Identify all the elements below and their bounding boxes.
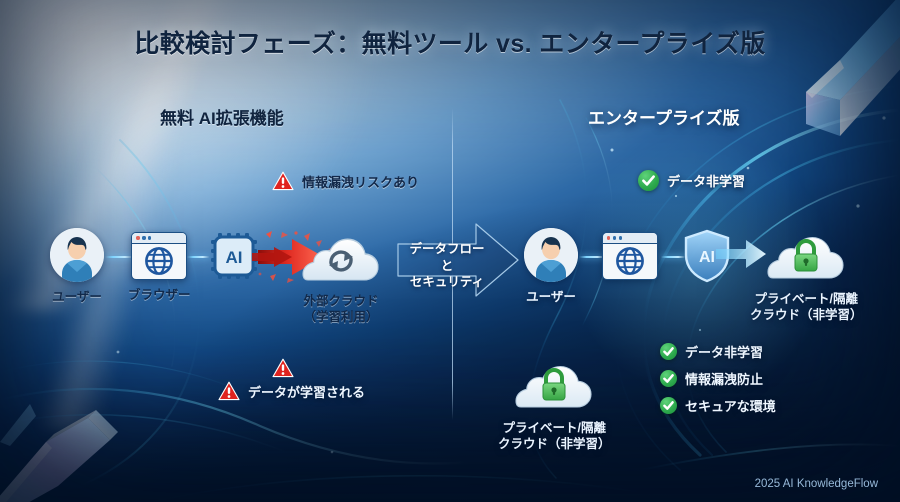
browser-globe-icon-right bbox=[602, 232, 658, 280]
success-badge-no-training: データ非学習 bbox=[638, 170, 745, 191]
center-arrow-label: データフローと セキュリティ bbox=[404, 241, 490, 291]
node-label-user-right: ユーザー bbox=[526, 289, 576, 305]
warning-badge-leak-risk: 情報漏洩リスクあり bbox=[272, 171, 419, 191]
node-private-cloud-secondary: プライベート/隔離 クラウド（非学習） bbox=[498, 355, 611, 452]
node-browser-left: ブラウザー bbox=[128, 232, 191, 303]
check-circle-icon bbox=[638, 170, 659, 191]
node-browser-right bbox=[602, 232, 658, 280]
benefits-list: データ非学習 情報漏洩防止 セキュアな環境 bbox=[660, 342, 776, 415]
slide-title: 比較検討フェーズ：無料ツール vs. エンタープライズ版 bbox=[0, 24, 900, 60]
check-circle-icon-1 bbox=[660, 343, 677, 360]
browser-titlebar-right bbox=[603, 233, 657, 244]
slide-canvas: 比較検討フェーズ：無料ツール vs. エンタープライズ版 無料 AI拡張機能 エ… bbox=[0, 0, 900, 502]
node-label-browser-left: ブラウザー bbox=[128, 287, 191, 303]
warning-icon-data-learned-upper bbox=[272, 358, 294, 378]
user-avatar-icon bbox=[50, 228, 104, 282]
benefit-label-3: セキュアな環境 bbox=[685, 396, 776, 415]
cloud-label-line2: （学習利用） bbox=[303, 310, 378, 324]
check-circle-icon-3 bbox=[660, 397, 677, 414]
private-cloud-line1: プライベート/隔離 bbox=[755, 292, 858, 306]
node-private-cloud-main: プライベート/隔離 クラウド（非学習） bbox=[750, 226, 863, 323]
node-label-external-cloud: 外部クラウド （学習利用） bbox=[303, 293, 378, 325]
warning-badge-data-learned: データが学習される bbox=[218, 381, 365, 401]
private-cloud-2-line2: クラウド（非学習） bbox=[498, 437, 611, 451]
benefit-item-2: 情報漏洩防止 bbox=[660, 369, 776, 388]
cloud-label-line1: 外部クラウド bbox=[303, 294, 378, 308]
center-arrow-line1: データフローと bbox=[409, 242, 484, 273]
browser-globe-icon bbox=[131, 232, 187, 280]
ai-chip-label: AI bbox=[226, 248, 243, 267]
check-circle-icon-2 bbox=[660, 370, 677, 387]
private-cloud-2-line1: プライベート/隔離 bbox=[503, 421, 606, 435]
center-arrow-line2: セキュリティ bbox=[410, 275, 484, 289]
browser-titlebar bbox=[132, 233, 186, 244]
right-column-header: エンタープライズ版 bbox=[588, 104, 739, 129]
node-user-left: ユーザー bbox=[50, 228, 104, 305]
cloud-lock-icon-secondary bbox=[513, 355, 595, 413]
warning-label-data-learned: データが学習される bbox=[248, 382, 365, 401]
browser-dot-blue-2 bbox=[148, 236, 151, 239]
cloud-lock-icon bbox=[765, 226, 847, 284]
warning-triangle-icon bbox=[272, 171, 294, 191]
node-user-right: ユーザー bbox=[524, 228, 578, 305]
node-label-private-cloud-secondary: プライベート/隔離 クラウド（非学習） bbox=[498, 420, 611, 452]
browser-dot-red bbox=[136, 236, 139, 239]
browser-dot-blue-right-2 bbox=[619, 236, 622, 239]
cloud-sync-icon bbox=[300, 228, 382, 286]
private-cloud-line2: クラウド（非学習） bbox=[750, 308, 863, 322]
node-label-user-left: ユーザー bbox=[52, 289, 102, 305]
warning-triangle-icon-2 bbox=[218, 381, 240, 401]
ai-shield-label: AI bbox=[699, 249, 715, 266]
footer-credit: 2025 AI KnowledgeFlow bbox=[755, 478, 878, 490]
success-label-no-training: データ非学習 bbox=[667, 171, 745, 190]
center-flow-arrow: データフローと セキュリティ bbox=[396, 222, 520, 298]
benefit-item-1: データ非学習 bbox=[660, 342, 776, 361]
left-column-header: 無料 AI拡張機能 bbox=[160, 104, 284, 129]
benefit-label-2: 情報漏洩防止 bbox=[685, 369, 763, 388]
benefit-label-1: データ非学習 bbox=[685, 342, 763, 361]
warning-triangle-icon-upper bbox=[272, 358, 294, 378]
browser-dot-red-right bbox=[607, 236, 610, 239]
benefit-item-3: セキュアな環境 bbox=[660, 396, 776, 415]
user-avatar-icon-right bbox=[524, 228, 578, 282]
browser-dot-blue-right bbox=[613, 236, 616, 239]
browser-dot-blue bbox=[142, 236, 145, 239]
node-external-cloud: 外部クラウド （学習利用） bbox=[300, 228, 382, 325]
warning-label-leak-risk: 情報漏洩リスクあり bbox=[302, 172, 419, 191]
node-label-private-cloud-main: プライベート/隔離 クラウド（非学習） bbox=[750, 291, 863, 323]
